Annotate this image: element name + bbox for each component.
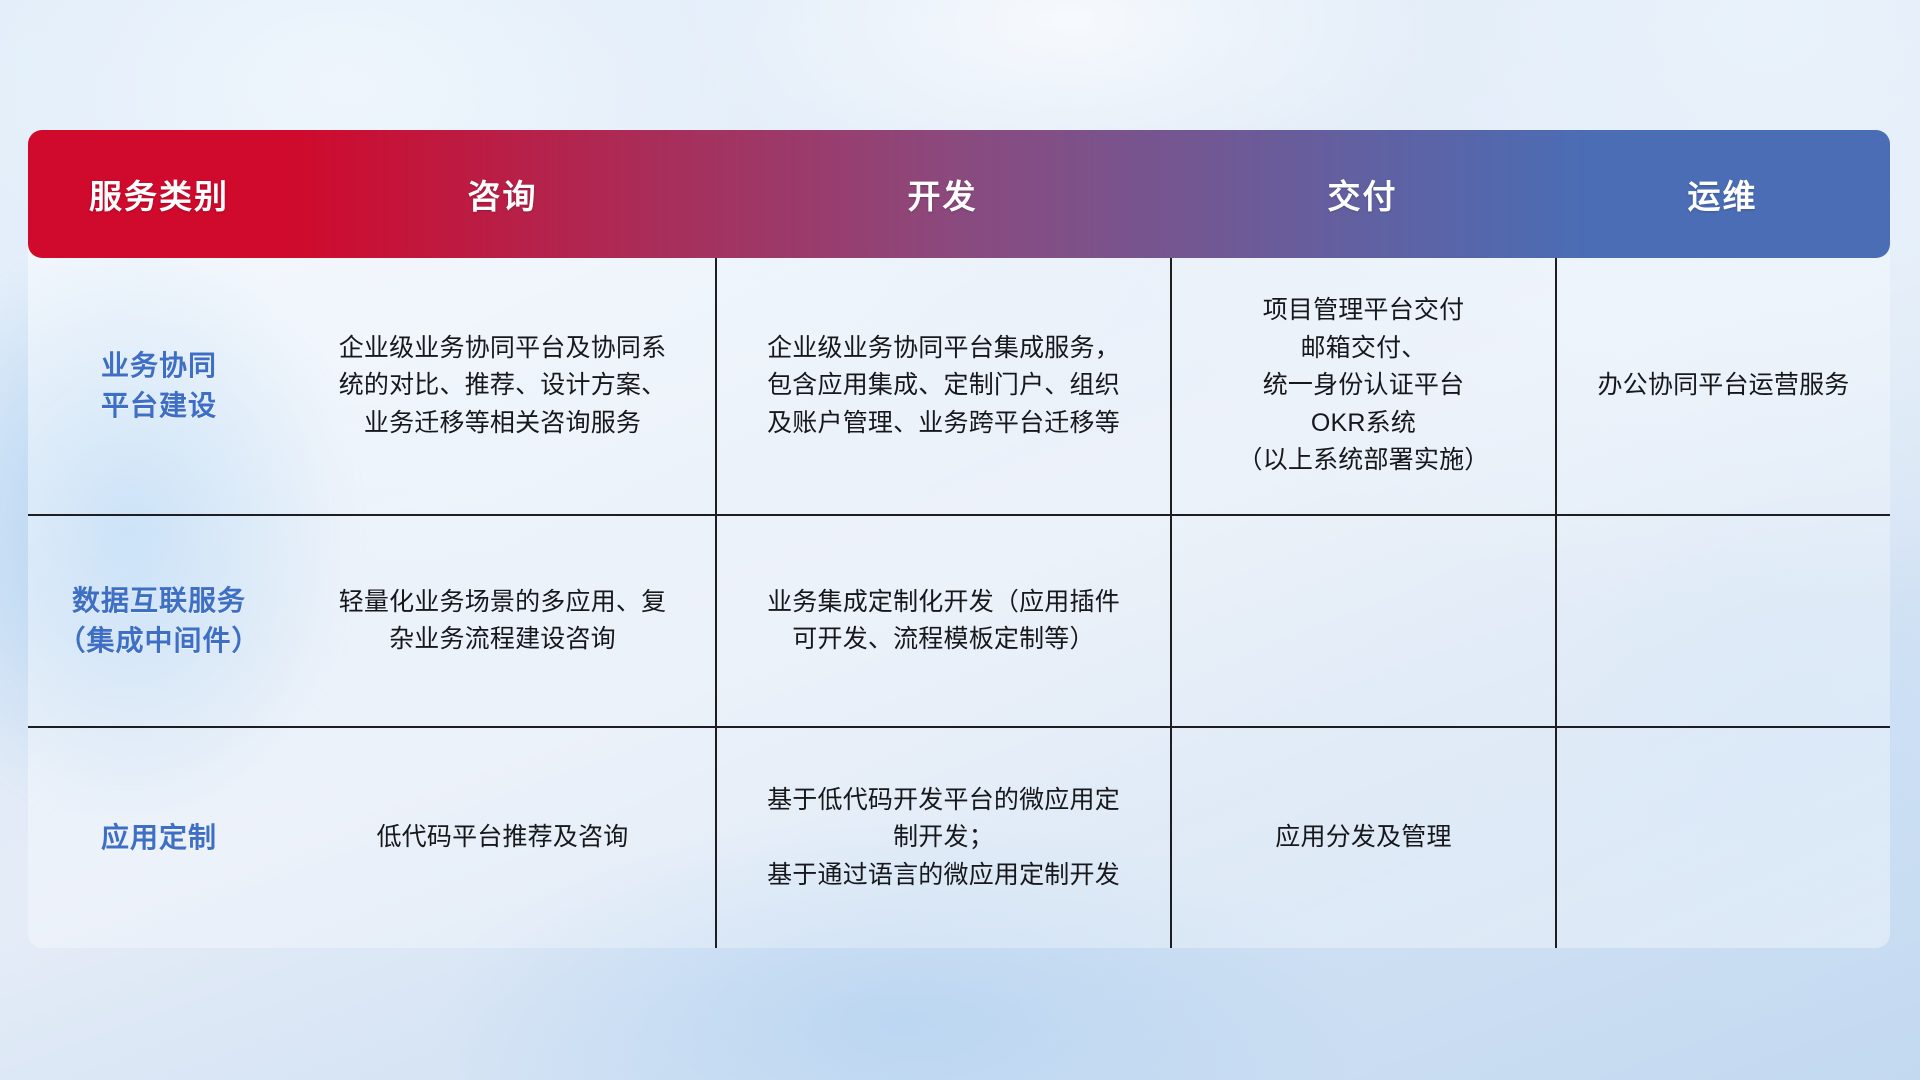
cell-text: 办公协同平台运营服务 <box>1597 367 1849 405</box>
cell-category: 数据互联服务 （集成中间件） <box>28 516 290 726</box>
cell-text: 应用分发及管理 <box>1275 819 1451 857</box>
column-header-category[interactable]: 服务类别 <box>28 170 290 218</box>
cell-development: 基于低代码开发平台的微应用定 制开发； 基于通过语言的微应用定制开发 <box>715 728 1170 948</box>
cell-category: 应用定制 <box>28 728 290 948</box>
cell-category: 业务协同 平台建设 <box>28 258 290 514</box>
category-label: 数据互联服务 （集成中间件） <box>57 581 260 661</box>
cell-delivery <box>1170 516 1555 726</box>
cell-text: 项目管理平台交付 邮箱交付、 统一身份认证平台 OKR系统 （以上系统部署实施） <box>1237 292 1489 480</box>
table-header-row: 服务类别咨询开发交付运维 <box>28 130 1890 258</box>
table-row: 应用定制低代码平台推荐及咨询基于低代码开发平台的微应用定 制开发； 基于通过语言… <box>28 728 1890 948</box>
category-label: 应用定制 <box>101 818 217 858</box>
column-header-development[interactable]: 开发 <box>715 170 1170 218</box>
table-row: 业务协同 平台建设企业级业务协同平台及协同系 统的对比、推荐、设计方案、 业务迁… <box>28 258 1890 516</box>
service-matrix-table: 服务类别咨询开发交付运维 业务协同 平台建设企业级业务协同平台及协同系 统的对比… <box>28 130 1890 948</box>
cell-delivery: 项目管理平台交付 邮箱交付、 统一身份认证平台 OKR系统 （以上系统部署实施） <box>1170 258 1555 514</box>
table-body: 业务协同 平台建设企业级业务协同平台及协同系 统的对比、推荐、设计方案、 业务迁… <box>28 258 1890 948</box>
cell-operations <box>1555 516 1890 726</box>
cell-text: 基于低代码开发平台的微应用定 制开发； 基于通过语言的微应用定制开发 <box>767 782 1120 895</box>
cell-operations <box>1555 728 1890 948</box>
cell-consulting: 企业级业务协同平台及协同系 统的对比、推荐、设计方案、 业务迁移等相关咨询服务 <box>290 258 715 514</box>
cell-operations: 办公协同平台运营服务 <box>1555 258 1890 514</box>
column-header-consulting[interactable]: 咨询 <box>290 170 715 218</box>
cell-text: 轻量化业务场景的多应用、复 杂业务流程建设咨询 <box>339 584 667 659</box>
column-header-delivery[interactable]: 交付 <box>1170 170 1555 218</box>
cell-text: 企业级业务协同平台集成服务， 包含应用集成、定制门户、组织 及账户管理、业务跨平… <box>767 330 1120 443</box>
cell-consulting: 低代码平台推荐及咨询 <box>290 728 715 948</box>
cell-delivery: 应用分发及管理 <box>1170 728 1555 948</box>
cell-development: 企业级业务协同平台集成服务， 包含应用集成、定制门户、组织 及账户管理、业务跨平… <box>715 258 1170 514</box>
column-header-operations[interactable]: 运维 <box>1555 170 1890 218</box>
cell-text: 低代码平台推荐及咨询 <box>376 819 628 857</box>
category-label: 业务协同 平台建设 <box>101 346 217 426</box>
table-row: 数据互联服务 （集成中间件）轻量化业务场景的多应用、复 杂业务流程建设咨询业务集… <box>28 516 1890 728</box>
cell-development: 业务集成定制化开发（应用插件 可开发、流程模板定制等） <box>715 516 1170 726</box>
cell-consulting: 轻量化业务场景的多应用、复 杂业务流程建设咨询 <box>290 516 715 726</box>
cell-text: 业务集成定制化开发（应用插件 可开发、流程模板定制等） <box>767 584 1120 659</box>
cell-text: 企业级业务协同平台及协同系 统的对比、推荐、设计方案、 业务迁移等相关咨询服务 <box>339 330 667 443</box>
